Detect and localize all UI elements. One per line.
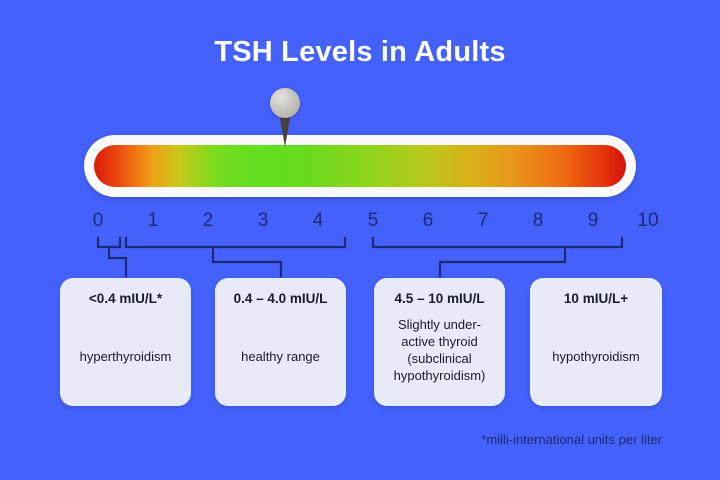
card-range-label: <0.4 mIU/L*	[83, 291, 168, 308]
gauge-bar	[84, 135, 636, 197]
tick-label-7: 7	[468, 210, 498, 232]
bracket-hyperthyroid	[98, 238, 120, 247]
scale-ticks: 0 1 2 3 4 5 6 7 8 9 10	[84, 210, 636, 236]
infographic-canvas: TSH Levels in Adults 0 1 2 3 4 5 6 7 8 9…	[0, 0, 720, 480]
tick-label-2: 2	[193, 210, 223, 232]
card-description: Slightly under-active thyroid(subclinica…	[388, 308, 492, 406]
bracket-healthy	[126, 238, 345, 247]
range-card-subclinical[interactable]: 4.5 – 10 mIU/L Slightly under-active thy…	[374, 278, 505, 406]
footnote: *milli-international units per liter	[0, 432, 662, 447]
card-range-label: 0.4 – 4.0 mIU/L	[228, 291, 334, 308]
pin-ball-icon	[270, 88, 300, 118]
card-description: hyperthyroidism	[74, 308, 178, 406]
pin-marker[interactable]	[262, 88, 308, 150]
page-title: TSH Levels in Adults	[0, 36, 720, 69]
bracket-connectors	[0, 0, 720, 480]
tick-label-4: 4	[303, 210, 333, 232]
card-range-label: 4.5 – 10 mIU/L	[388, 291, 490, 308]
tick-label-1: 1	[138, 210, 168, 232]
gauge-gradient-fill	[94, 145, 626, 187]
connector-to-card-3	[440, 247, 565, 276]
range-card-hyperthyroidism[interactable]: <0.4 mIU/L* hyperthyroidism	[60, 278, 191, 406]
card-description: healthy range	[235, 308, 326, 406]
bracket-subclinical	[373, 238, 622, 247]
tick-label-6: 6	[413, 210, 443, 232]
tick-label-0: 0	[83, 210, 113, 232]
connector-to-card-2	[213, 247, 281, 276]
tick-label-3: 3	[248, 210, 278, 232]
tick-label-9: 9	[578, 210, 608, 232]
tick-label-8: 8	[523, 210, 553, 232]
range-card-healthy[interactable]: 0.4 – 4.0 mIU/L healthy range	[215, 278, 346, 406]
connector-to-card-1	[109, 247, 126, 276]
range-card-hypothyroidism[interactable]: 10 mIU/L+ hypothyroidism	[530, 278, 662, 406]
tick-label-5: 5	[358, 210, 388, 232]
card-range-label: 10 mIU/L+	[558, 291, 634, 308]
card-description: hypothyroidism	[546, 308, 645, 406]
tick-label-10: 10	[633, 210, 663, 232]
